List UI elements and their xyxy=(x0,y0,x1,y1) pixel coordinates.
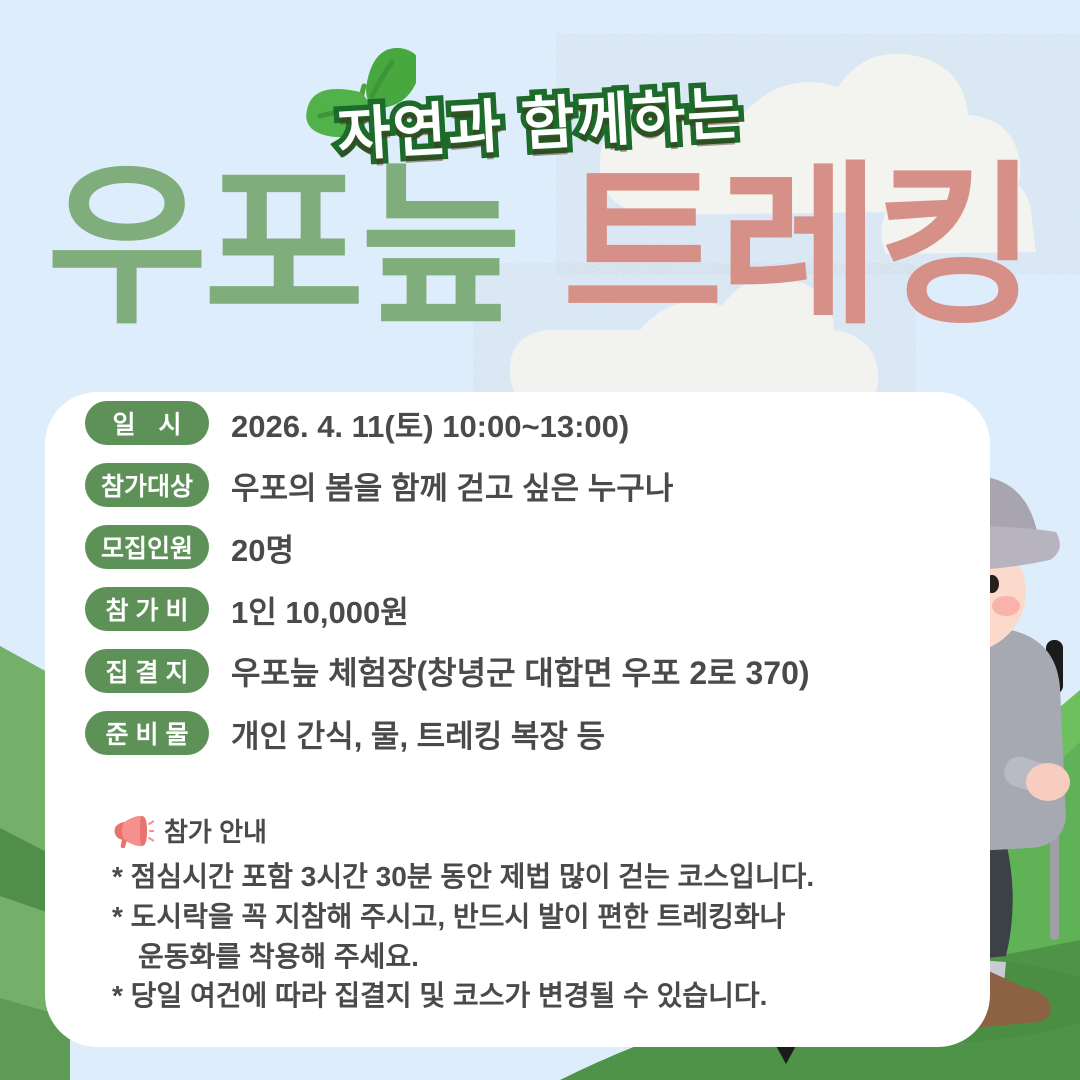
notice-heading: 참가 안내 xyxy=(112,812,992,849)
info-row-items: 준 비 물 개인 간식, 물, 트레킹 복장 등 xyxy=(85,702,1035,764)
info-label-items: 준 비 물 xyxy=(85,711,209,755)
info-row-list: 일 시 2026. 4. 11(토) 10:00~13:00) 참가대상 우포의… xyxy=(45,392,1035,764)
poster-title-activity: 트레킹 xyxy=(562,150,1033,345)
info-label-capacity: 모집인원 xyxy=(85,525,209,569)
info-row-meeting-point: 집 결 지 우포늪 체험장(창녕군 대합면 우포 2로 370) xyxy=(85,640,1035,702)
info-label-meeting-point: 집 결 지 xyxy=(85,649,209,693)
info-value-items: 개인 간식, 물, 트레킹 복장 등 xyxy=(231,711,605,756)
info-value-capacity: 20명 xyxy=(231,525,294,570)
poster-header: 자연과 함께하는 우포늪 트레킹 xyxy=(0,0,1080,360)
info-label-audience: 참가대상 xyxy=(85,463,209,507)
notice-line: * 도시락을 꼭 지참해 주시고, 반드시 발이 편한 트레킹화나 xyxy=(112,897,992,937)
info-label-fee: 참 가 비 xyxy=(85,587,209,631)
info-row-audience: 참가대상 우포의 봄을 함께 걷고 싶은 누구나 xyxy=(85,454,1035,516)
poster-title: 우포늪 트레킹 xyxy=(0,160,1080,335)
info-label-date: 일 시 xyxy=(85,401,209,445)
info-value-meeting-point: 우포늪 체험장(창녕군 대합면 우포 2로 370) xyxy=(231,648,810,694)
notice-section: 참가 안내 * 점심시간 포함 3시간 30분 동안 제법 많이 걷는 코스입니… xyxy=(112,812,992,1016)
notice-heading-text: 참가 안내 xyxy=(164,812,267,849)
info-value-audience: 우포의 봄을 함께 걷고 싶은 누구나 xyxy=(231,463,673,508)
info-value-date: 2026. 4. 11(토) 10:00~13:00) xyxy=(231,401,629,446)
poster-title-place: 우포늪 xyxy=(47,150,518,345)
info-value-fee: 1인 10,000원 xyxy=(231,587,409,632)
notice-line: 운동화를 착용해 주세요. xyxy=(112,937,992,977)
info-row-fee: 참 가 비 1인 10,000원 xyxy=(85,578,1035,640)
info-row-date: 일 시 2026. 4. 11(토) 10:00~13:00) xyxy=(85,392,1035,454)
megaphone-icon xyxy=(112,814,154,848)
info-row-capacity: 모집인원 20명 xyxy=(85,516,1035,578)
notice-line: * 점심시간 포함 3시간 30분 동안 제법 많이 걷는 코스입니다. xyxy=(112,857,992,897)
notice-line: * 당일 여건에 따라 집결지 및 코스가 변경될 수 있습니다. xyxy=(112,976,992,1016)
poster-canvas: 자연과 함께하는 우포늪 트레킹 일 시 2026. 4. 11(토) 10:0… xyxy=(0,0,1080,1080)
